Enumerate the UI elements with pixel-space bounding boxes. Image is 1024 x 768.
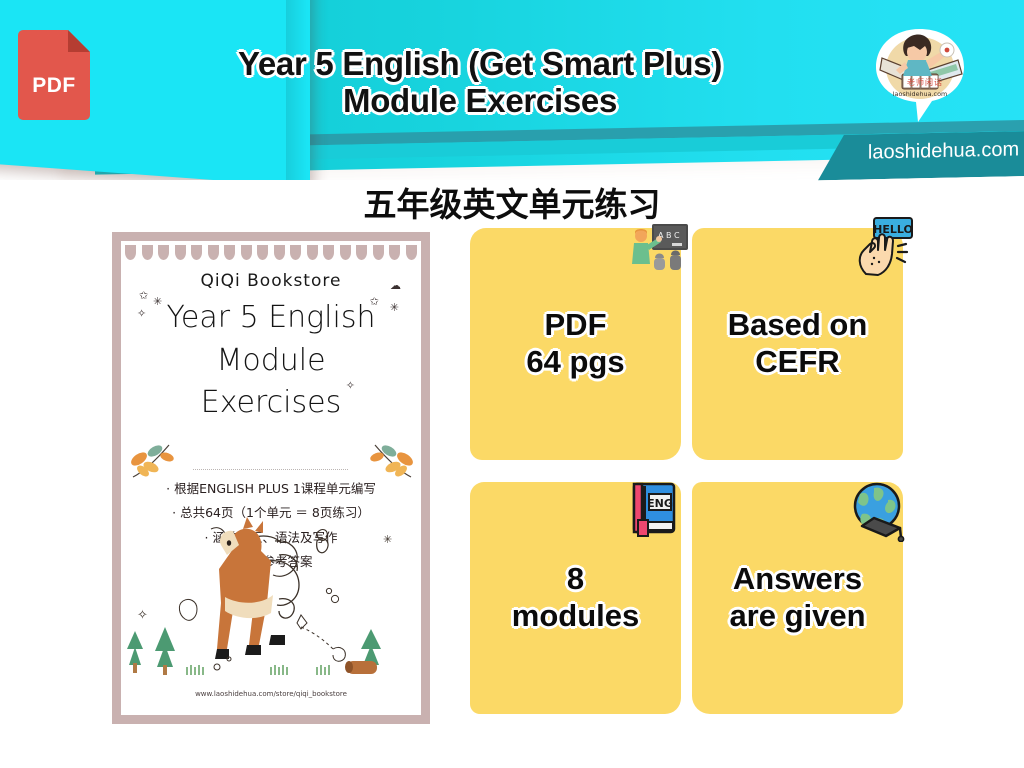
- svg-text:✳: ✳: [383, 534, 392, 546]
- feature-card-pdf-text: PDF 64 pgs: [518, 307, 632, 380]
- page-title-line1: Year 5 English (Get Smart Plus): [238, 45, 722, 82]
- svg-text:✧: ✧: [137, 607, 148, 622]
- site-url-text: laoshidehua.com: [836, 138, 1024, 166]
- feature-card-pdf-line1: PDF: [526, 307, 624, 344]
- book-title-line2: Module: [121, 340, 421, 383]
- bookstore-brand: QiQi Bookstore: [121, 271, 421, 291]
- svg-text:老: 老: [907, 77, 915, 87]
- book-title-line3: Exercises: [121, 382, 421, 425]
- scallop-decoration: [125, 245, 417, 261]
- book-cover-inner: ✩ ✳ ✧ ✩ ✳ ☁ ✧ QiQi Bookstore Year 5 Engl…: [121, 241, 421, 715]
- feature-card-modules[interactable]: 8 modules: [470, 482, 681, 714]
- feature-card-answers-text: Answers are given: [721, 561, 873, 634]
- feature-card-modules-line1: 8: [512, 561, 639, 598]
- page-title-line2: Module Exercises: [150, 83, 810, 120]
- feature-card-answers[interactable]: Answers are given: [692, 482, 903, 714]
- book-title-line1: Year 5 English: [121, 297, 421, 340]
- page-title: Year 5 English (Get Smart Plus) Module E…: [150, 46, 810, 120]
- feature-card-pdf-line2: 64 pgs: [526, 344, 624, 381]
- feature-card-cefr-text: Based on CEFR: [720, 307, 876, 380]
- feature-card-cefr[interactable]: Based on CEFR: [692, 228, 903, 460]
- book-cover-preview: ✩ ✳ ✧ ✩ ✳ ☁ ✧ QiQi Bookstore Year 5 Engl…: [112, 232, 430, 724]
- feature-card-modules-line2: modules: [512, 598, 639, 635]
- book-cover-title: Year 5 English Module Exercises: [121, 297, 421, 425]
- feature-card-pdf[interactable]: PDF 64 pgs: [470, 228, 681, 460]
- pdf-file-icon: PDF: [18, 30, 90, 120]
- svg-text:师: 师: [916, 77, 924, 87]
- book-bullet-0: · 根据ENGLISH PLUS 1课程单元编写: [125, 477, 417, 501]
- svg-text:话: 话: [934, 77, 942, 87]
- feature-card-cefr-line1: Based on: [728, 307, 868, 344]
- bookstore-url: www.laoshidehua.com/store/qiqi_bookstore: [121, 690, 421, 698]
- site-logo: 老 师 闲 话 laoshidehua.com: [872, 26, 968, 126]
- leaf-decoration-right: [365, 437, 417, 481]
- subtitle-chinese: 五年级英文单元练习: [0, 178, 1024, 226]
- feature-card-answers-line1: Answers: [729, 561, 865, 598]
- feature-card-cefr-line2: CEFR: [728, 344, 868, 381]
- feature-card-modules-text: 8 modules: [504, 561, 647, 634]
- feature-card-answers-line2: are given: [729, 598, 865, 635]
- svg-text:闲: 闲: [925, 78, 933, 87]
- cover-divider: [193, 469, 348, 470]
- horse-illustration: ✧ ✳: [121, 499, 421, 689]
- svg-text:laoshidehua.com: laoshidehua.com: [893, 90, 947, 98]
- pdf-icon-label: PDF: [18, 74, 90, 98]
- leaf-decoration-left: [127, 437, 179, 481]
